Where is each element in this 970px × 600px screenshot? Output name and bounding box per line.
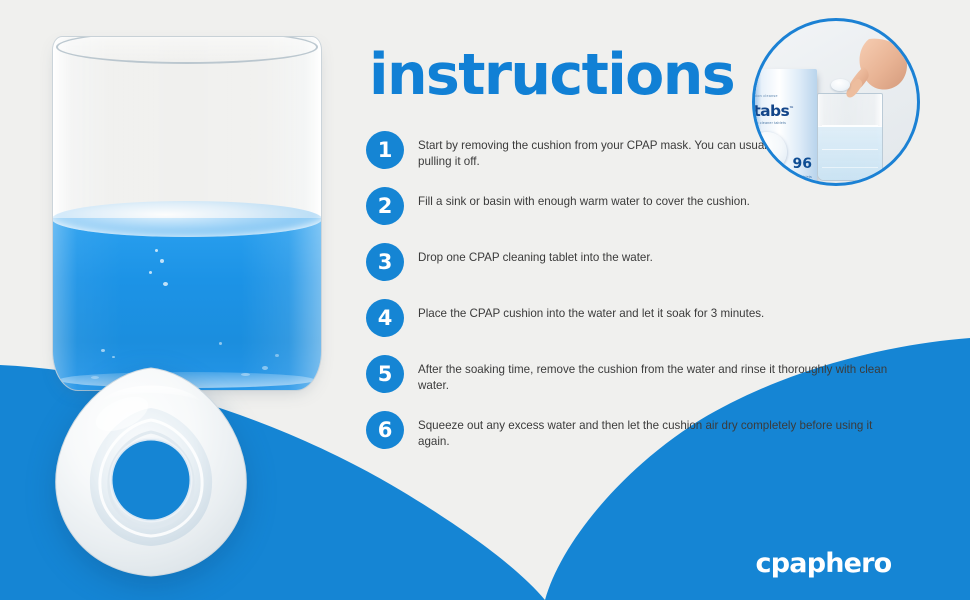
beaker-water <box>818 126 882 180</box>
beaker <box>817 93 883 181</box>
product-box-title: aptabs™ <box>752 102 794 120</box>
left-product-photo <box>0 0 370 600</box>
step-number-badge: 4 <box>366 299 404 337</box>
glass-rim <box>56 36 318 64</box>
step-text: Fill a sink or basin with enough warm wa… <box>418 186 888 210</box>
step-number-badge: 6 <box>366 411 404 449</box>
list-item: 3 Drop one CPAP cleaning tablet into the… <box>366 242 970 281</box>
tablet-icon <box>752 132 787 172</box>
product-box-description: cpap cushion cleaner tablets <box>752 121 786 125</box>
liquid-surface <box>52 201 322 237</box>
list-item: 5 After the soaking time, remove the cus… <box>366 354 970 393</box>
product-box-count: 96 <box>793 156 812 172</box>
cpap-mask-cushion <box>42 362 260 584</box>
list-item: 2 Fill a sink or basin with enough warm … <box>366 186 970 225</box>
list-item: 6 Squeeze out any excess water and then … <box>366 410 970 449</box>
infographic-canvas: instructions 1 Start by removing the cus… <box>0 0 970 600</box>
step-text: Place the CPAP cushion into the water an… <box>418 298 888 322</box>
step-text: After the soaking time, remove the cushi… <box>418 354 888 393</box>
product-box-count-unit: tablets <box>800 175 812 179</box>
hand-icon <box>839 37 909 103</box>
list-item: 4 Place the CPAP cushion into the water … <box>366 298 970 337</box>
step-text: Drop one CPAP cleaning tablet into the w… <box>418 242 888 266</box>
step-number-badge: 3 <box>366 243 404 281</box>
product-box: hero deep cushion cleanse aptabs™ cpap c… <box>752 69 817 185</box>
step-text: Squeeze out any excess water and then le… <box>418 410 888 449</box>
step-number-badge: 1 <box>366 131 404 169</box>
product-box-subtitle: deep cushion cleanse <box>752 94 778 98</box>
step-number-badge: 5 <box>366 355 404 393</box>
product-photo-circle: hero deep cushion cleanse aptabs™ cpap c… <box>752 18 920 186</box>
step-number-badge: 2 <box>366 187 404 225</box>
trademark-symbol: ™ <box>789 106 793 112</box>
page-title: instructions <box>369 47 734 104</box>
effervescent-tablet <box>831 79 850 91</box>
water-glass <box>52 36 322 391</box>
brand-logo: cpaphero <box>731 530 916 600</box>
brand-logo-text: cpaphero <box>731 548 916 579</box>
